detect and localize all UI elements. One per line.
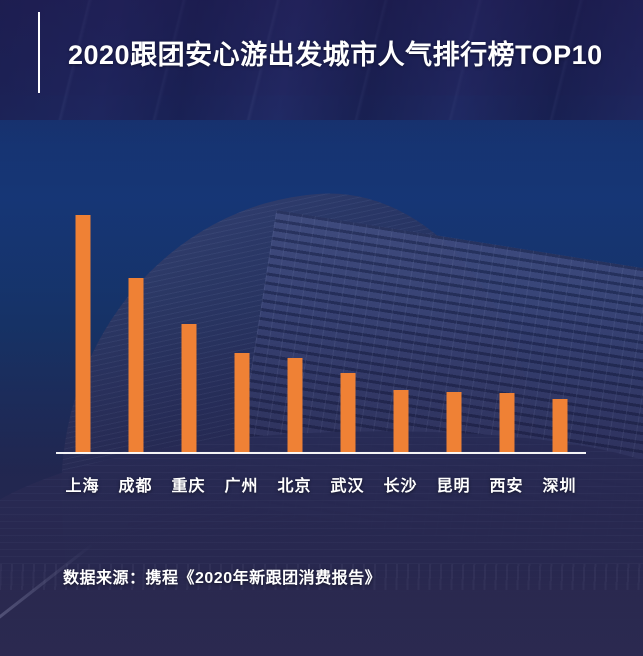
bar-重庆 bbox=[181, 324, 196, 453]
chart-plot-area bbox=[56, 205, 586, 453]
bar-广州 bbox=[234, 353, 249, 453]
bar-slot bbox=[109, 205, 162, 453]
bar-昆明 bbox=[446, 392, 461, 453]
bar-slot bbox=[321, 205, 374, 453]
bar-slot bbox=[427, 205, 480, 453]
tick-label-深圳: 深圳 bbox=[533, 472, 586, 496]
bar-slot bbox=[480, 205, 533, 453]
bar-深圳 bbox=[552, 399, 567, 453]
bar-成都 bbox=[128, 278, 143, 453]
bar-slot bbox=[162, 205, 215, 453]
tick-label-重庆: 重庆 bbox=[162, 472, 215, 496]
bar-slot bbox=[374, 205, 427, 453]
bar-北京 bbox=[287, 358, 302, 453]
tick-label-武汉: 武汉 bbox=[321, 472, 374, 496]
bar-西安 bbox=[499, 393, 514, 453]
tick-label-北京: 北京 bbox=[268, 472, 321, 496]
bar-上海 bbox=[75, 215, 90, 453]
x-axis-line bbox=[56, 452, 586, 454]
tick-label-上海: 上海 bbox=[56, 472, 109, 496]
tick-label-成都: 成都 bbox=[109, 472, 162, 496]
bar-chart: 上海成都重庆广州北京武汉长沙昆明西安深圳 bbox=[0, 0, 643, 656]
tick-label-广州: 广州 bbox=[215, 472, 268, 496]
bar-武汉 bbox=[340, 373, 355, 453]
data-source-note: 数据来源：携程《2020年新跟团消费报告》 bbox=[63, 564, 381, 588]
bar-slot bbox=[56, 205, 109, 453]
tick-label-西安: 西安 bbox=[480, 472, 533, 496]
bar-slot bbox=[268, 205, 321, 453]
bar-长沙 bbox=[393, 390, 408, 453]
bar-slot bbox=[533, 205, 586, 453]
bar-slot bbox=[215, 205, 268, 453]
infographic-page: 2020跟团安心游出发城市人气排行榜TOP10 上海成都重庆广州北京武汉长沙昆明… bbox=[0, 0, 643, 656]
x-axis-tick-labels: 上海成都重庆广州北京武汉长沙昆明西安深圳 bbox=[56, 472, 586, 498]
tick-label-昆明: 昆明 bbox=[427, 472, 480, 496]
tick-label-长沙: 长沙 bbox=[374, 472, 427, 496]
